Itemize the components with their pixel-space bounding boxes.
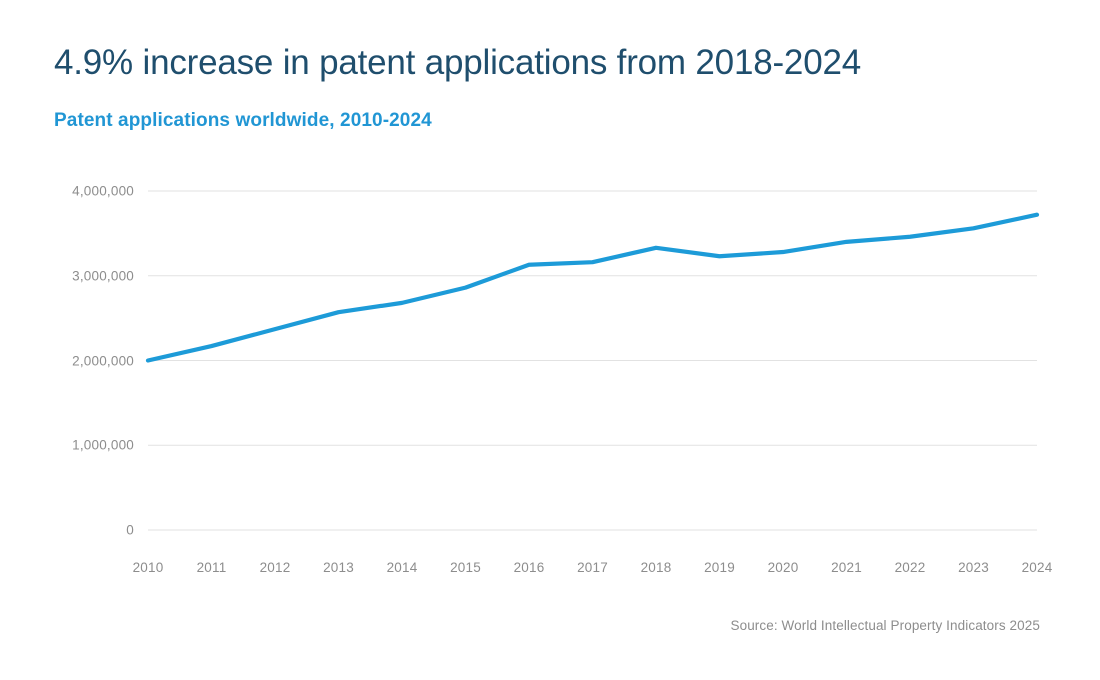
data-series-group (148, 215, 1037, 361)
x-tick-label: 2011 (177, 560, 247, 575)
x-tick-label: 2012 (240, 560, 310, 575)
x-tick-label: 2013 (304, 560, 374, 575)
chart-page: 4.9% increase in patent applications fro… (0, 0, 1100, 680)
y-tick-label: 2,000,000 (14, 353, 134, 368)
x-tick-label: 2015 (431, 560, 501, 575)
x-tick-label: 2020 (748, 560, 818, 575)
source-note: Source: World Intellectual Property Indi… (730, 618, 1040, 633)
x-tick-label: 2022 (875, 560, 945, 575)
y-tick-label: 4,000,000 (14, 184, 134, 199)
x-tick-label: 2024 (1002, 560, 1072, 575)
y-tick-label: 1,000,000 (14, 438, 134, 453)
gridlines (148, 191, 1037, 530)
series-line-0 (148, 215, 1037, 361)
y-axis: 01,000,0002,000,0003,000,0004,000,000 (14, 0, 134, 680)
x-tick-label: 2014 (367, 560, 437, 575)
x-tick-label: 2023 (939, 560, 1009, 575)
x-tick-label: 2019 (685, 560, 755, 575)
line-chart: 01,000,0002,000,0003,000,0004,000,000 20… (0, 0, 1100, 680)
x-tick-label: 2017 (558, 560, 628, 575)
x-tick-label: 2016 (494, 560, 564, 575)
y-tick-label: 3,000,000 (14, 268, 134, 283)
y-tick-label: 0 (14, 523, 134, 538)
x-tick-label: 2010 (113, 560, 183, 575)
x-tick-label: 2021 (812, 560, 882, 575)
x-tick-label: 2018 (621, 560, 691, 575)
chart-canvas (0, 0, 1100, 680)
